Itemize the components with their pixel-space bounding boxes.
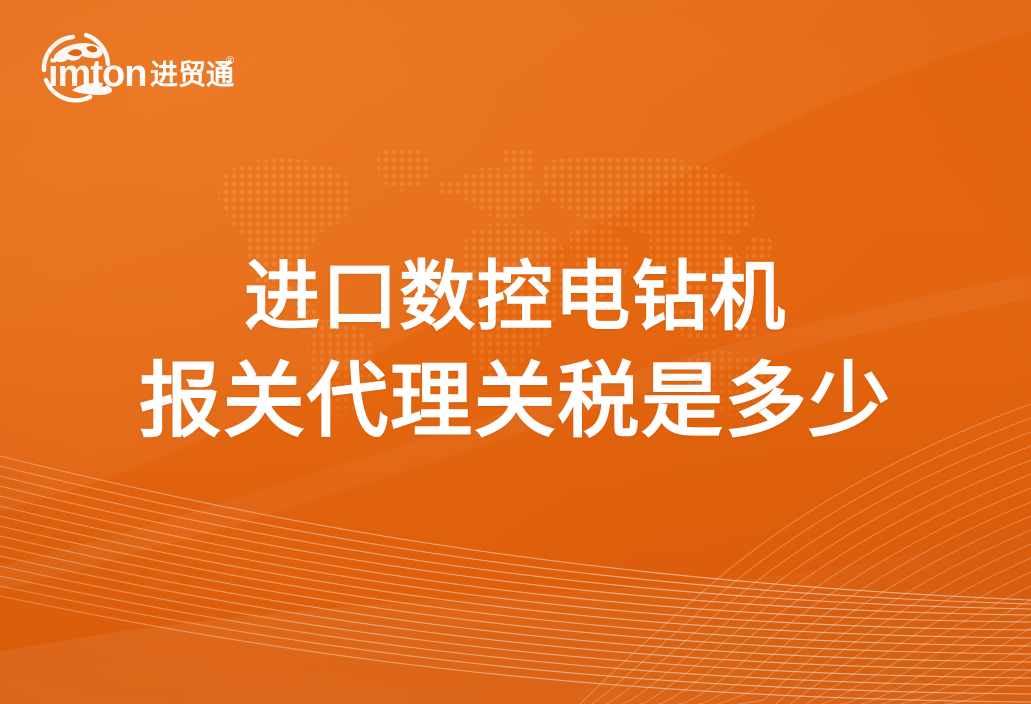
registered-trademark-icon: ® (226, 55, 234, 67)
brand-logo[interactable]: imton 进贸通 ® (38, 26, 238, 110)
logo-chinese-name: 进贸通 (150, 59, 234, 90)
dotted-world-map-background (206, 132, 806, 432)
promo-banner: imton 进贸通 ® 进口数控电钻机 报关代理关税是多少 (0, 0, 1031, 704)
logo-wordmark: imton (48, 53, 146, 95)
